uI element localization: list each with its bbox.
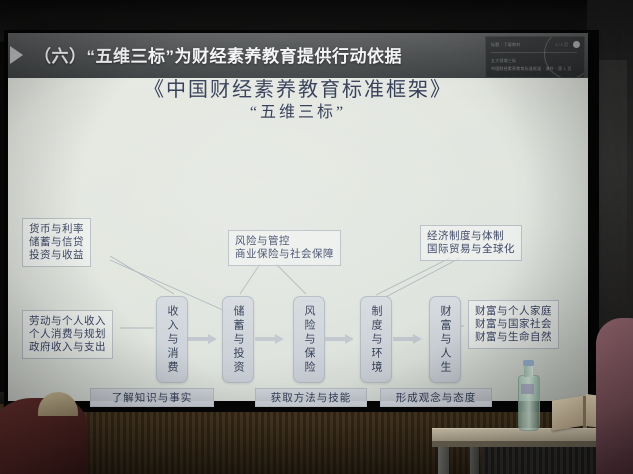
flow-arrow-icon — [325, 334, 355, 343]
standard-label-skills: 获取方法与技能 — [255, 388, 367, 407]
callout-line: 储蓄与信贷 — [29, 236, 84, 249]
standard-label-knowledge: 了解知识与事实 — [90, 388, 214, 407]
slide-header-title: （六）“五维三标”为财经素养教育提供行动依据 — [34, 42, 402, 67]
flow-arrow-icon — [255, 334, 285, 343]
lecture-room-photo: （六）“五维三标”为财经素养教育提供行动依据 标题 · 下载教材 1 / 1 页… — [0, 0, 633, 474]
overlay-knob-icon[interactable] — [573, 41, 580, 48]
dimension-label: 风险与保险 — [303, 305, 315, 375]
dimension-box-risk: 风险与保险 — [293, 296, 325, 383]
dimension-label: 储蓄与投资 — [232, 305, 244, 375]
callout-line: 个人消费与规划 — [29, 328, 106, 341]
audience-person-right — [596, 318, 633, 474]
projection-screen: （六）“五维三标”为财经素养教育提供行动依据 标题 · 下载教材 1 / 1 页… — [8, 33, 588, 401]
slide-header-bar: （六）“五维三标”为财经素养教育提供行动依据 标题 · 下载教材 1 / 1 页… — [8, 33, 588, 78]
dimension-label: 收入与消费 — [166, 305, 178, 375]
standard-label-attitude: 形成观念与态度 — [380, 388, 492, 407]
slide-body: 《中国财经素养教育标准框架》 “五维三标” 货币与利率 — [8, 78, 588, 401]
callout-income-domain: 劳动与个人收入 个人消费与规划 政府收入与支出 — [22, 310, 113, 359]
dimension-label: 制度与环境 — [370, 305, 382, 375]
callout-line: 商业保险与社会保障 — [235, 248, 334, 261]
callout-line: 风险与管控 — [235, 235, 334, 248]
callout-risk-domain: 风险与管控 商业保险与社会保障 — [228, 230, 341, 266]
callout-wealth-domain: 财富与个人家庭 财富与国家社会 财富与生命自然 — [468, 300, 559, 349]
desk-leg — [438, 447, 449, 474]
callout-line: 财富与生命自然 — [475, 331, 552, 344]
flow-arrow-icon — [393, 334, 423, 343]
dimension-box-institution: 制度与环境 — [360, 296, 392, 383]
overlay-row-subtitle: 五大领域三标 — [491, 58, 516, 64]
open-book-left-page — [552, 395, 586, 430]
callout-money-domain: 货币与利率 储蓄与信贷 投资与收益 — [22, 218, 91, 267]
callout-line: 政府收入与支出 — [29, 341, 106, 354]
overlay-row-title: 标题 · 下载教材 — [491, 42, 520, 48]
triangle-marker-icon — [10, 46, 23, 64]
callout-line: 财富与个人家庭 — [475, 305, 552, 318]
bottle-cap — [523, 360, 534, 366]
callout-line: 劳动与个人收入 — [29, 315, 106, 328]
dimension-box-income: 收入与消费 — [156, 296, 188, 383]
dimension-label: 财富与人生 — [439, 305, 451, 375]
media-overlay-panel[interactable]: 标题 · 下载教材 1 / 1 页 五大领域三标 中国财经素养教育标准框架 · … — [485, 36, 585, 78]
callout-line: 财富与国家社会 — [475, 318, 552, 331]
flow-arrow-icon — [188, 334, 218, 343]
desk-leg — [470, 447, 479, 474]
desk-speaker-panel — [482, 447, 612, 474]
callout-line: 国际贸易与全球化 — [427, 243, 515, 256]
dimension-box-savings: 储蓄与投资 — [222, 296, 254, 383]
callout-economy-domain: 经济制度与体制 国际贸易与全球化 — [420, 225, 522, 261]
callout-line: 投资与收益 — [29, 249, 84, 262]
dimension-box-wealth: 财富与人生 — [429, 296, 461, 383]
bottle-label — [521, 384, 534, 394]
callout-line: 货币与利率 — [29, 223, 84, 236]
callout-line: 经济制度与体制 — [427, 230, 515, 243]
